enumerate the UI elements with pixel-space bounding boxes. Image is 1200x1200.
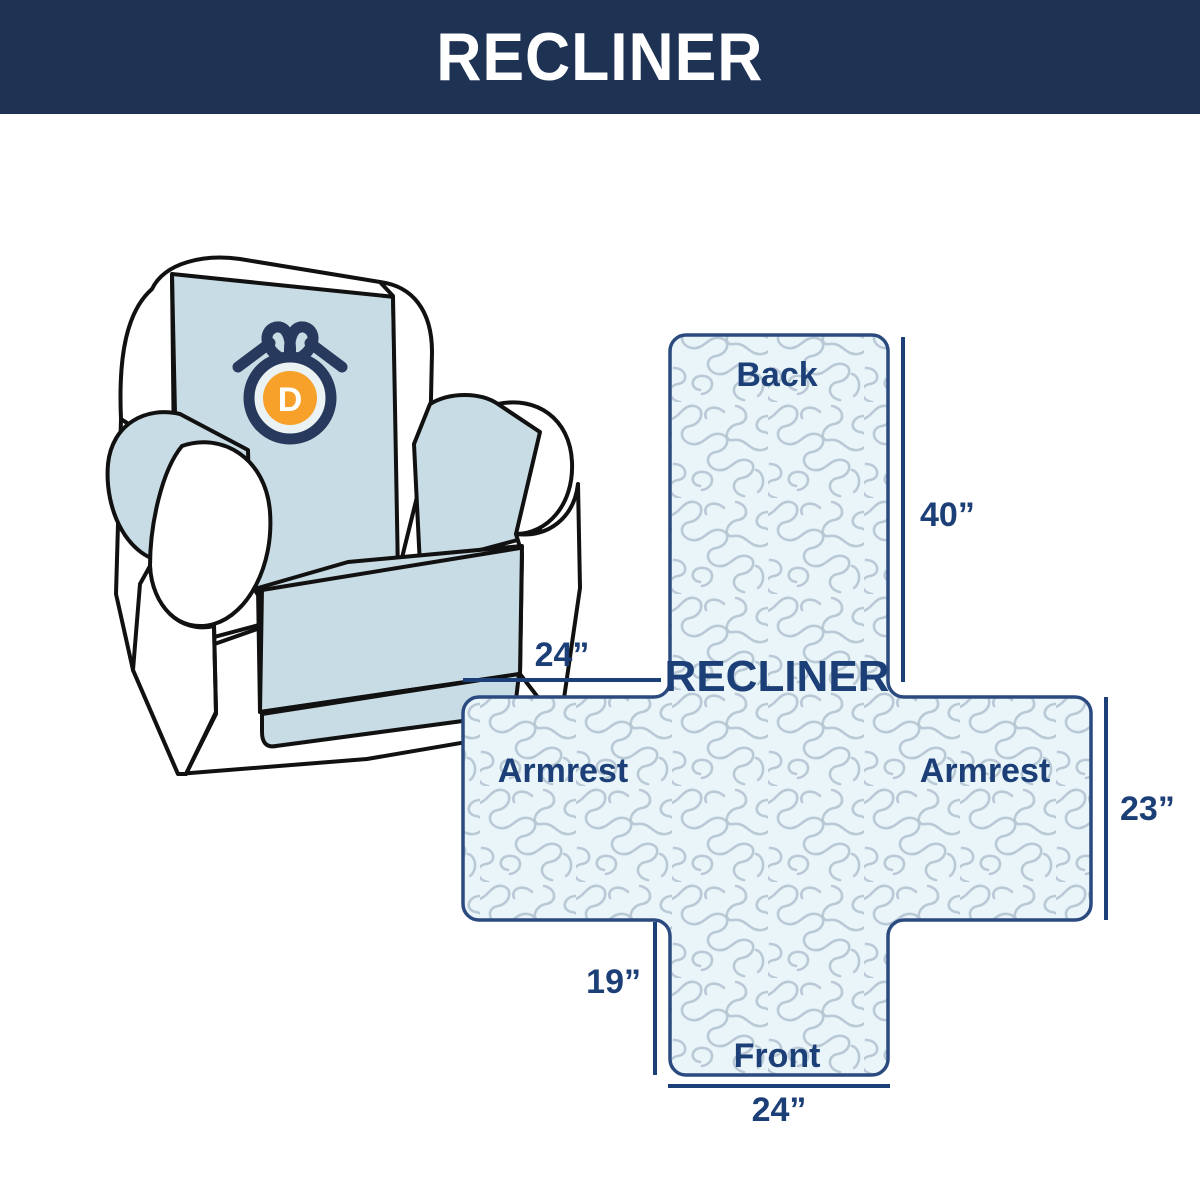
dimension-label-front-height: 19” [586, 963, 641, 1001]
panel-label-armrest-right: Armrest [920, 752, 1050, 790]
panel-label-back: Back [736, 356, 817, 394]
product-dimension-graphic: RECLINER [0, 0, 1200, 1200]
logo-letter: D [278, 381, 303, 419]
page-title: RECLINER [436, 23, 763, 91]
panel-label-front: Front [734, 1037, 821, 1075]
panel-label-armrest-left: Armrest [498, 752, 628, 790]
dimension-label-back-height: 40” [920, 496, 975, 534]
panel-label-center: RECLINER [665, 652, 890, 701]
dimension-label-front-width: 24” [752, 1091, 807, 1129]
artwork-area: D Back Armrest RECLINER Armrest Front 40… [0, 114, 1200, 1200]
dimension-label-center-height: 23” [1120, 790, 1175, 828]
dimension-label-back-width: 24” [535, 636, 590, 674]
header-banner: RECLINER [0, 0, 1200, 114]
chair-left-arm-edge [214, 626, 216, 710]
